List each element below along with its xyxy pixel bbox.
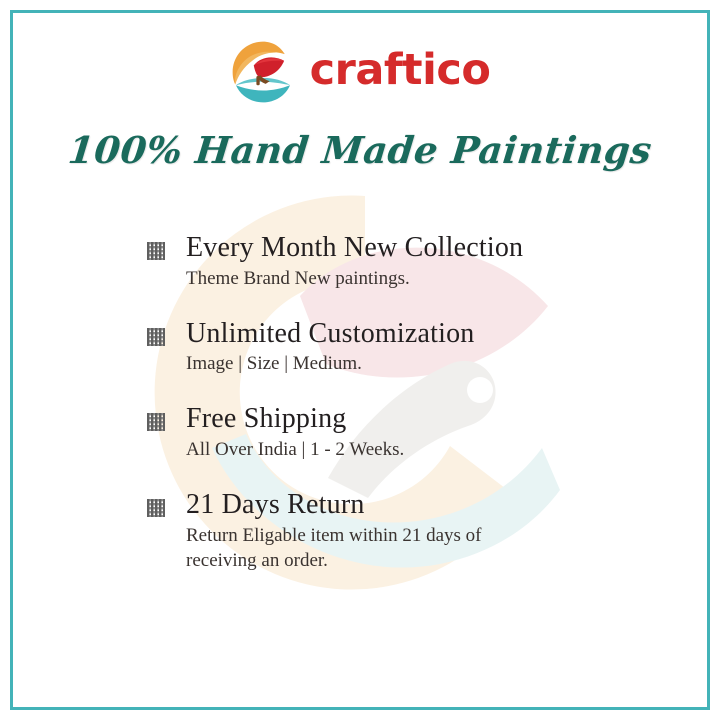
- feature-title: Unlimited Customization: [186, 318, 606, 350]
- woven-grid-square-icon: [146, 241, 166, 261]
- list-item: Unlimited Customization Image | Size | M…: [146, 318, 606, 378]
- woven-grid-square-icon: [146, 327, 166, 347]
- woven-grid-square-icon: [146, 498, 166, 518]
- feature-title: 21 Days Return: [186, 489, 606, 521]
- craftico-c-paintbrush-icon: [230, 39, 296, 105]
- feature-description: All Over India | 1 - 2 Weeks.: [186, 437, 556, 463]
- poster-canvas: craftico 100% Hand Made Paintings: [0, 0, 720, 720]
- feature-description: Image | Size | Medium.: [186, 351, 556, 377]
- list-item: Every Month New Collection Theme Brand N…: [146, 232, 606, 292]
- brand-wordmark: craftico: [310, 49, 491, 96]
- feature-description: Theme Brand New paintings.: [186, 266, 556, 292]
- page-title: 100% Hand Made Paintings: [0, 128, 720, 172]
- feature-description: Return Eligable item within 21 days of r…: [186, 523, 556, 574]
- feature-list: Every Month New Collection Theme Brand N…: [146, 232, 606, 574]
- feature-title: Every Month New Collection: [186, 232, 606, 264]
- brand-logo-lockup: craftico: [0, 36, 720, 108]
- list-item: 21 Days Return Return Eligable item with…: [146, 489, 606, 574]
- list-item: Free Shipping All Over India | 1 - 2 Wee…: [146, 403, 606, 463]
- woven-grid-square-icon: [146, 412, 166, 432]
- feature-title: Free Shipping: [186, 403, 606, 435]
